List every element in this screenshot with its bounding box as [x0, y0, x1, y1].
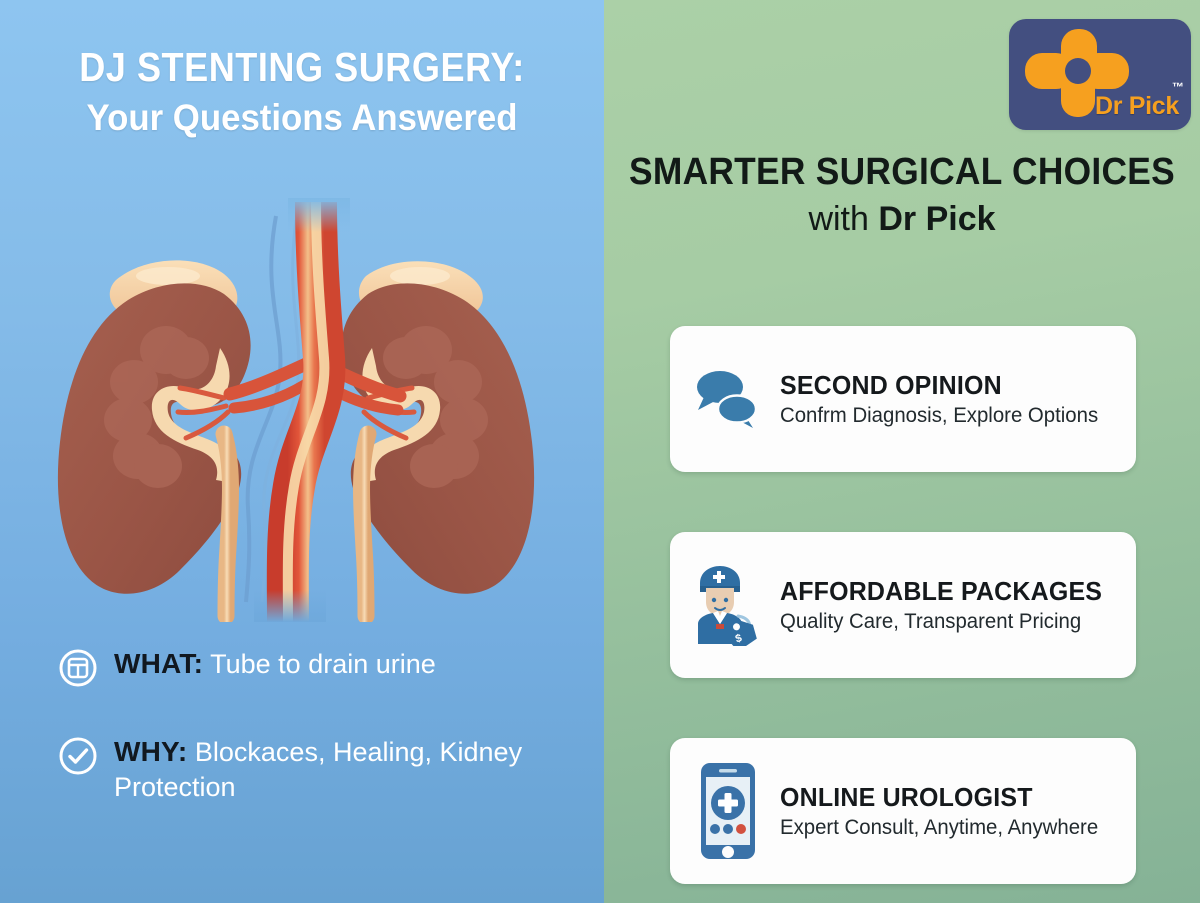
feature-card-online-urologist[interactable]: ONLINE UROLOGIST Expert Consult, Anytime…	[670, 738, 1136, 884]
feature-cards-list: SECOND OPINION Confrm Diagnosis, Explore…	[670, 326, 1136, 903]
doctor-price-tag-icon: $	[692, 559, 764, 651]
right-heading-block: SMARTER SURGICAL CHOICES with Dr Pick	[604, 152, 1200, 241]
right-heading-line1: SMARTER SURGICAL CHOICES	[625, 152, 1179, 193]
dr-pick-logo-badge[interactable]: Dr Pick ™	[1009, 19, 1191, 130]
fact-row-what: WHAT: Tube to drain urine	[58, 644, 588, 688]
left-panel: DJ STENTING SURGERY: Your Questions Answ…	[0, 0, 604, 903]
feature-card-second-opinion[interactable]: SECOND OPINION Confrm Diagnosis, Explore…	[670, 326, 1136, 472]
feature-card-text: AFFORDABLE PACKAGES Quality Care, Transp…	[780, 575, 1116, 635]
mobile-phone-medical-icon	[692, 765, 764, 857]
feature-card-subtitle: Confrm Diagnosis, Explore Options	[780, 403, 1098, 429]
feature-card-title: SECOND OPINION	[780, 371, 1095, 400]
feature-card-title: AFFORDABLE PACKAGES	[780, 577, 1102, 606]
logo-brand-text: Dr Pick	[1095, 92, 1179, 121]
fact-label-why: WHY:	[114, 736, 187, 767]
fact-text-why: WHY: Blockaces, Healing, Kidney Protecti…	[114, 732, 588, 805]
feature-card-subtitle: Quality Care, Transparent Pricing	[780, 609, 1105, 635]
kidneys-anatomy-illustration	[48, 198, 568, 622]
right-heading-brand: Dr Pick	[878, 200, 995, 238]
fact-value-what: Tube to drain urine	[210, 649, 436, 679]
facts-list: WHAT: Tube to drain urine WHY: Blockaces…	[58, 644, 588, 849]
fact-row-why: WHY: Blockaces, Healing, Kidney Protecti…	[58, 732, 588, 805]
right-heading-line2: with Dr Pick	[604, 197, 1200, 241]
infographic-poster: DJ STENTING SURGERY: Your Questions Answ…	[0, 0, 1200, 903]
trademark-symbol: ™	[1172, 80, 1184, 94]
feature-card-title: ONLINE UROLOGIST	[780, 783, 1095, 812]
feature-card-subtitle: Expert Consult, Anytime, Anywhere	[780, 815, 1098, 841]
window-grid-icon	[58, 648, 98, 688]
feature-card-affordable-packages[interactable]: $ AFFORDABLE PACKAGES Quality Care, Tran…	[670, 532, 1136, 678]
page-title-line1: DJ STENTING SURGERY:	[36, 46, 568, 89]
right-panel: Dr Pick ™ SMARTER SURGICAL CHOICES with …	[604, 0, 1200, 903]
right-heading-with: with	[808, 200, 878, 238]
fact-text-what: WHAT: Tube to drain urine	[114, 644, 436, 682]
feature-card-text: ONLINE UROLOGIST Expert Consult, Anytime…	[780, 781, 1108, 841]
fact-label-what: WHAT:	[114, 648, 203, 679]
left-title-block: DJ STENTING SURGERY: Your Questions Answ…	[0, 46, 604, 141]
check-circle-icon	[58, 736, 98, 776]
page-title-line2: Your Questions Answered	[18, 95, 586, 141]
speech-bubbles-icon	[692, 353, 764, 445]
feature-card-text: SECOND OPINION Confrm Diagnosis, Explore…	[780, 369, 1108, 429]
